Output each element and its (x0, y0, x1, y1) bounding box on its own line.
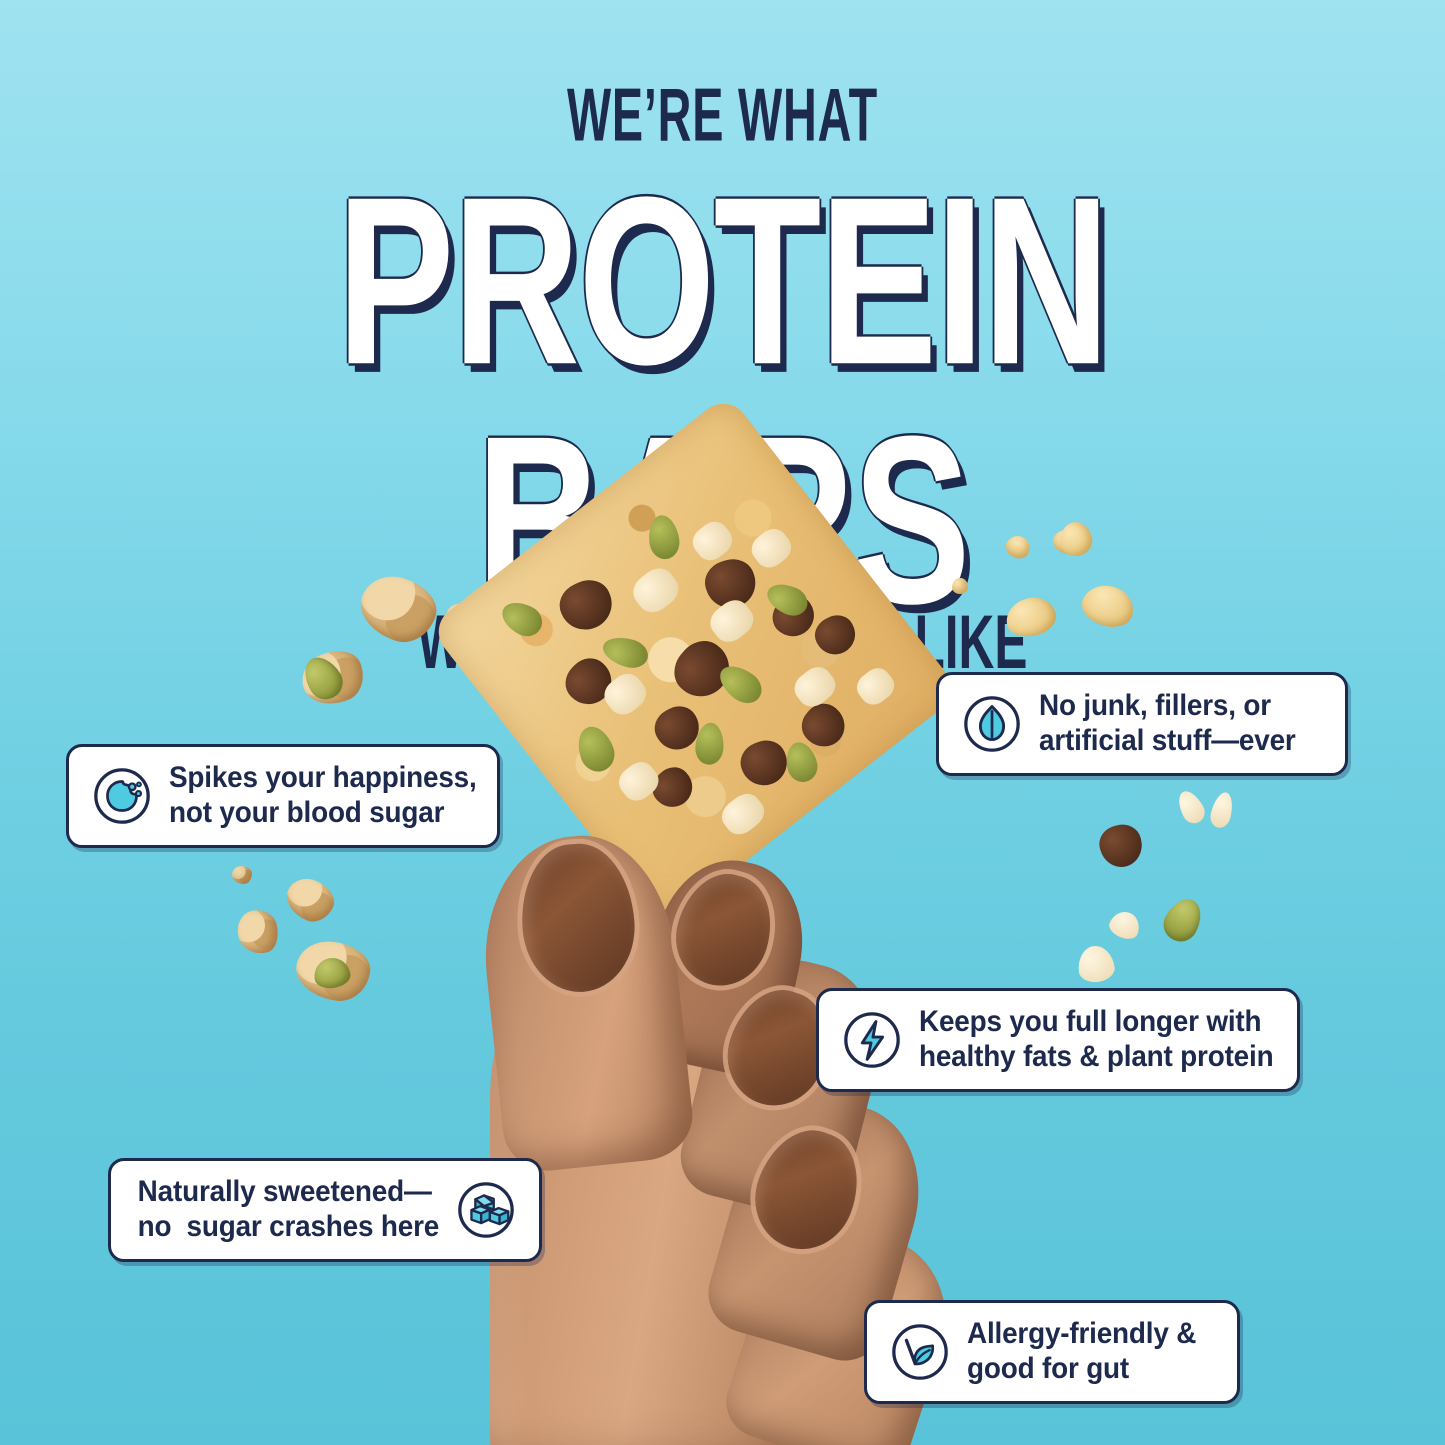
crumb-peanut (1003, 593, 1060, 641)
crumb-peanut (952, 578, 968, 594)
crumb-granola (233, 906, 282, 958)
vegan-leaf-icon (889, 1321, 951, 1383)
badge-allergy-friendly[interactable]: Allergy-friendly & good for gut (864, 1300, 1240, 1404)
leaf-drop-icon (961, 693, 1023, 755)
crumb-almond-sliver (1173, 787, 1208, 827)
badge-label: Keeps you full longer with healthy fats … (919, 1005, 1273, 1075)
crumb-peanut (1002, 531, 1034, 562)
crumb-granola (280, 872, 340, 928)
badge-no-junk[interactable]: No junk, fillers, or artificial stuff—ev… (936, 672, 1348, 776)
crumb-almond-sliver (1076, 944, 1117, 985)
ad-canvas: WE’RE WHAT PROTEIN BARS WISH THEY TASTED… (0, 0, 1445, 1445)
crumb-chocolate-chip (1096, 821, 1147, 872)
cell-droplet-icon (91, 765, 153, 827)
lightning-bolt-icon (841, 1009, 903, 1071)
crumb-pumpkin-seed (1158, 893, 1209, 948)
crumb-peanut (1077, 579, 1139, 633)
badge-label: Naturally sweetened— no sugar crashes he… (138, 1175, 439, 1245)
badge-keeps-you-full[interactable]: Keeps you full longer with healthy fats … (816, 988, 1300, 1092)
crumb-granola (352, 568, 443, 650)
badge-label: Spikes your happiness, not your blood su… (169, 761, 477, 831)
crumb-almond-sliver (1208, 790, 1236, 830)
crumb-granola (232, 866, 252, 884)
badge-spikes-happiness[interactable]: Spikes your happiness, not your blood su… (66, 744, 500, 848)
crumb-almond-sliver (1106, 907, 1144, 942)
badge-label: Allergy-friendly & good for gut (967, 1317, 1196, 1387)
badge-label: No junk, fillers, or artificial stuff—ev… (1039, 689, 1296, 759)
sugar-cubes-icon (455, 1179, 517, 1241)
badge-naturally-sweetened[interactable]: Naturally sweetened— no sugar crashes he… (108, 1158, 542, 1262)
